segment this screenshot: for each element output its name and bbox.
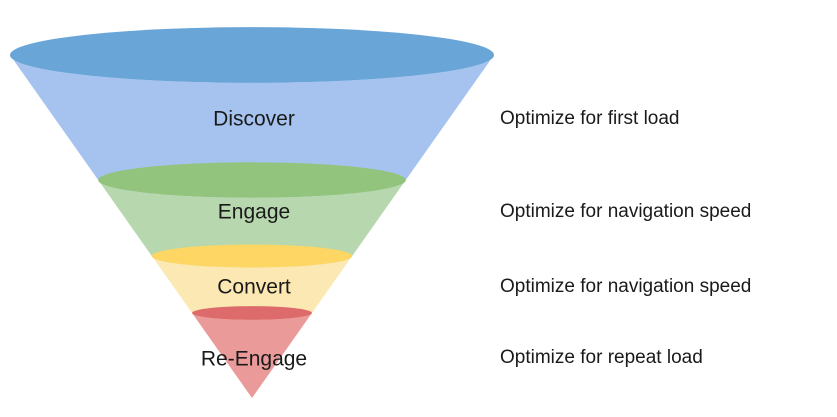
funnel-diagram: DiscoverEngageConvertRe-Engage Optimize … [0, 0, 837, 417]
annotation-discover: Optimize for first load [500, 108, 680, 130]
funnel-band-top-convert [152, 244, 352, 267]
funnel-band-top-discover [10, 27, 494, 83]
annotation-re-engage: Optimize for repeat load [500, 347, 703, 369]
funnel-stage-label-re-engage: Re-Engage [201, 348, 307, 371]
funnel-band-top-re-engage [192, 306, 312, 320]
funnel-stage-label-engage: Engage [218, 201, 290, 224]
annotation-engage: Optimize for navigation speed [500, 201, 751, 223]
funnel-stage-label-discover: Discover [213, 108, 295, 131]
funnel-band-top-engage [98, 162, 406, 197]
annotation-convert: Optimize for navigation speed [500, 276, 751, 298]
funnel-stage-label-convert: Convert [217, 276, 291, 299]
